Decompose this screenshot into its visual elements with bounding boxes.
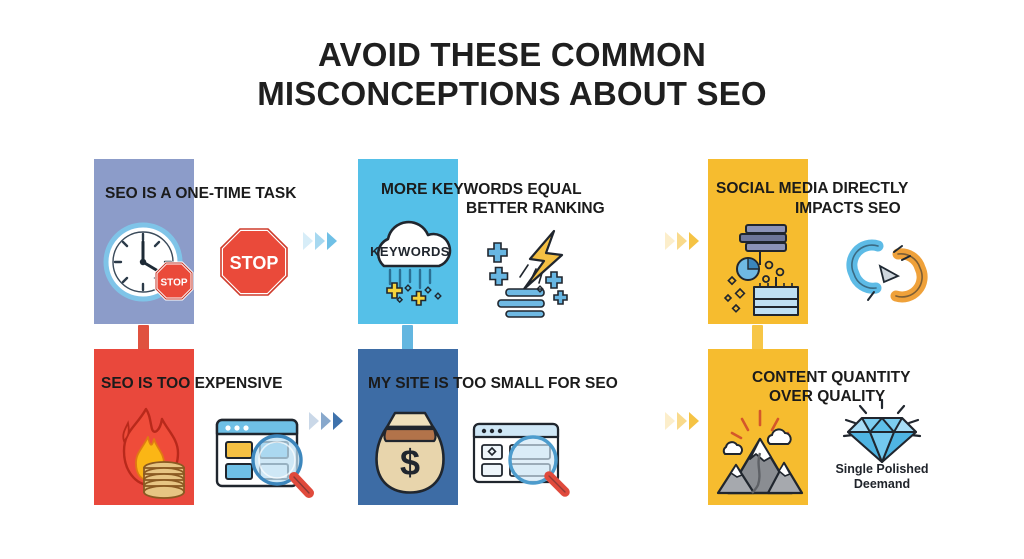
title-line-1: AVOID THESE COMMON: [0, 36, 1024, 75]
panel-seo-one-time-task[interactable]: SEO IS A ONE-TIME TASK: [94, 159, 194, 324]
page-title: AVOID THESE COMMON MISCONCEPTIONS ABOUT …: [0, 36, 1024, 113]
website-search-icon: [470, 418, 578, 500]
panel-label-line-2: IMPACTS SEO: [795, 200, 901, 219]
panel-label-line-2: BETTER RANKING: [466, 200, 605, 219]
infographic-canvas: AVOID THESE COMMON MISCONCEPTIONS ABOUT …: [0, 0, 1024, 559]
panel-content-quantity-over-quality[interactable]: CONTENT QUANTITY OVER QUALITY: [708, 349, 808, 505]
svg-text:$: $: [400, 442, 420, 483]
lightning-boost-icon: [484, 225, 576, 317]
panel-label-line-1: SOCIAL MEDIA DIRECTLY: [716, 180, 908, 199]
panel-label: MY SITE IS TOO SMALL FOR SEO: [368, 375, 618, 394]
arrow-top-2-to-3: [665, 232, 699, 250]
website-audit-icon: [213, 414, 317, 500]
analytics-stack-icon: [714, 221, 808, 317]
svg-text:KEYWORDS: KEYWORDS: [370, 244, 450, 259]
diamond-caption-line-1: Single Polished: [817, 462, 947, 477]
diamond-icon: [836, 398, 928, 466]
panel-more-keywords-better-ranking[interactable]: MORE KEYWORDS EQUAL BETTER RANKING KEYWO…: [358, 159, 458, 324]
stop-sign-badge-icon: STOP: [154, 261, 194, 301]
arrow-top-1-to-2: [303, 232, 337, 250]
broken-chain-link-icon: [840, 230, 932, 316]
panel-social-media-impacts-seo[interactable]: SOCIAL MEDIA DIRECTLY IMPACTS SEO: [708, 159, 808, 324]
stop-sign-icon: STOP: [218, 226, 290, 298]
arrow-bottom-2-to-3: [665, 412, 699, 430]
svg-text:STOP: STOP: [160, 278, 187, 289]
panel-label-line-1: CONTENT QUANTITY: [752, 369, 910, 388]
panel-label: SEO IS A ONE-TIME TASK: [105, 185, 296, 204]
panel-label: SEO IS TOO EXPENSIVE: [101, 375, 282, 394]
arrow-bottom-1-to-2: [309, 412, 343, 430]
title-line-2: MISCONCEPTIONS ABOUT SEO: [0, 75, 1024, 114]
keywords-cloud-icon: KEYWORDS: [362, 222, 460, 314]
diamond-caption-line-2: Deemand: [817, 477, 947, 492]
panel-site-too-small-for-seo[interactable]: MY SITE IS TOO SMALL FOR SEO $: [358, 349, 458, 505]
svg-text:STOP: STOP: [230, 253, 279, 273]
burning-money-icon: [106, 405, 192, 501]
diamond-caption: Single Polished Deemand: [817, 462, 947, 492]
panel-label-line-1: MORE KEYWORDS EQUAL: [381, 181, 582, 200]
money-bag-icon: $: [371, 407, 449, 499]
mountain-peak-icon: [714, 407, 806, 499]
panel-seo-too-expensive[interactable]: SEO IS TOO EXPENSIVE: [94, 349, 194, 505]
